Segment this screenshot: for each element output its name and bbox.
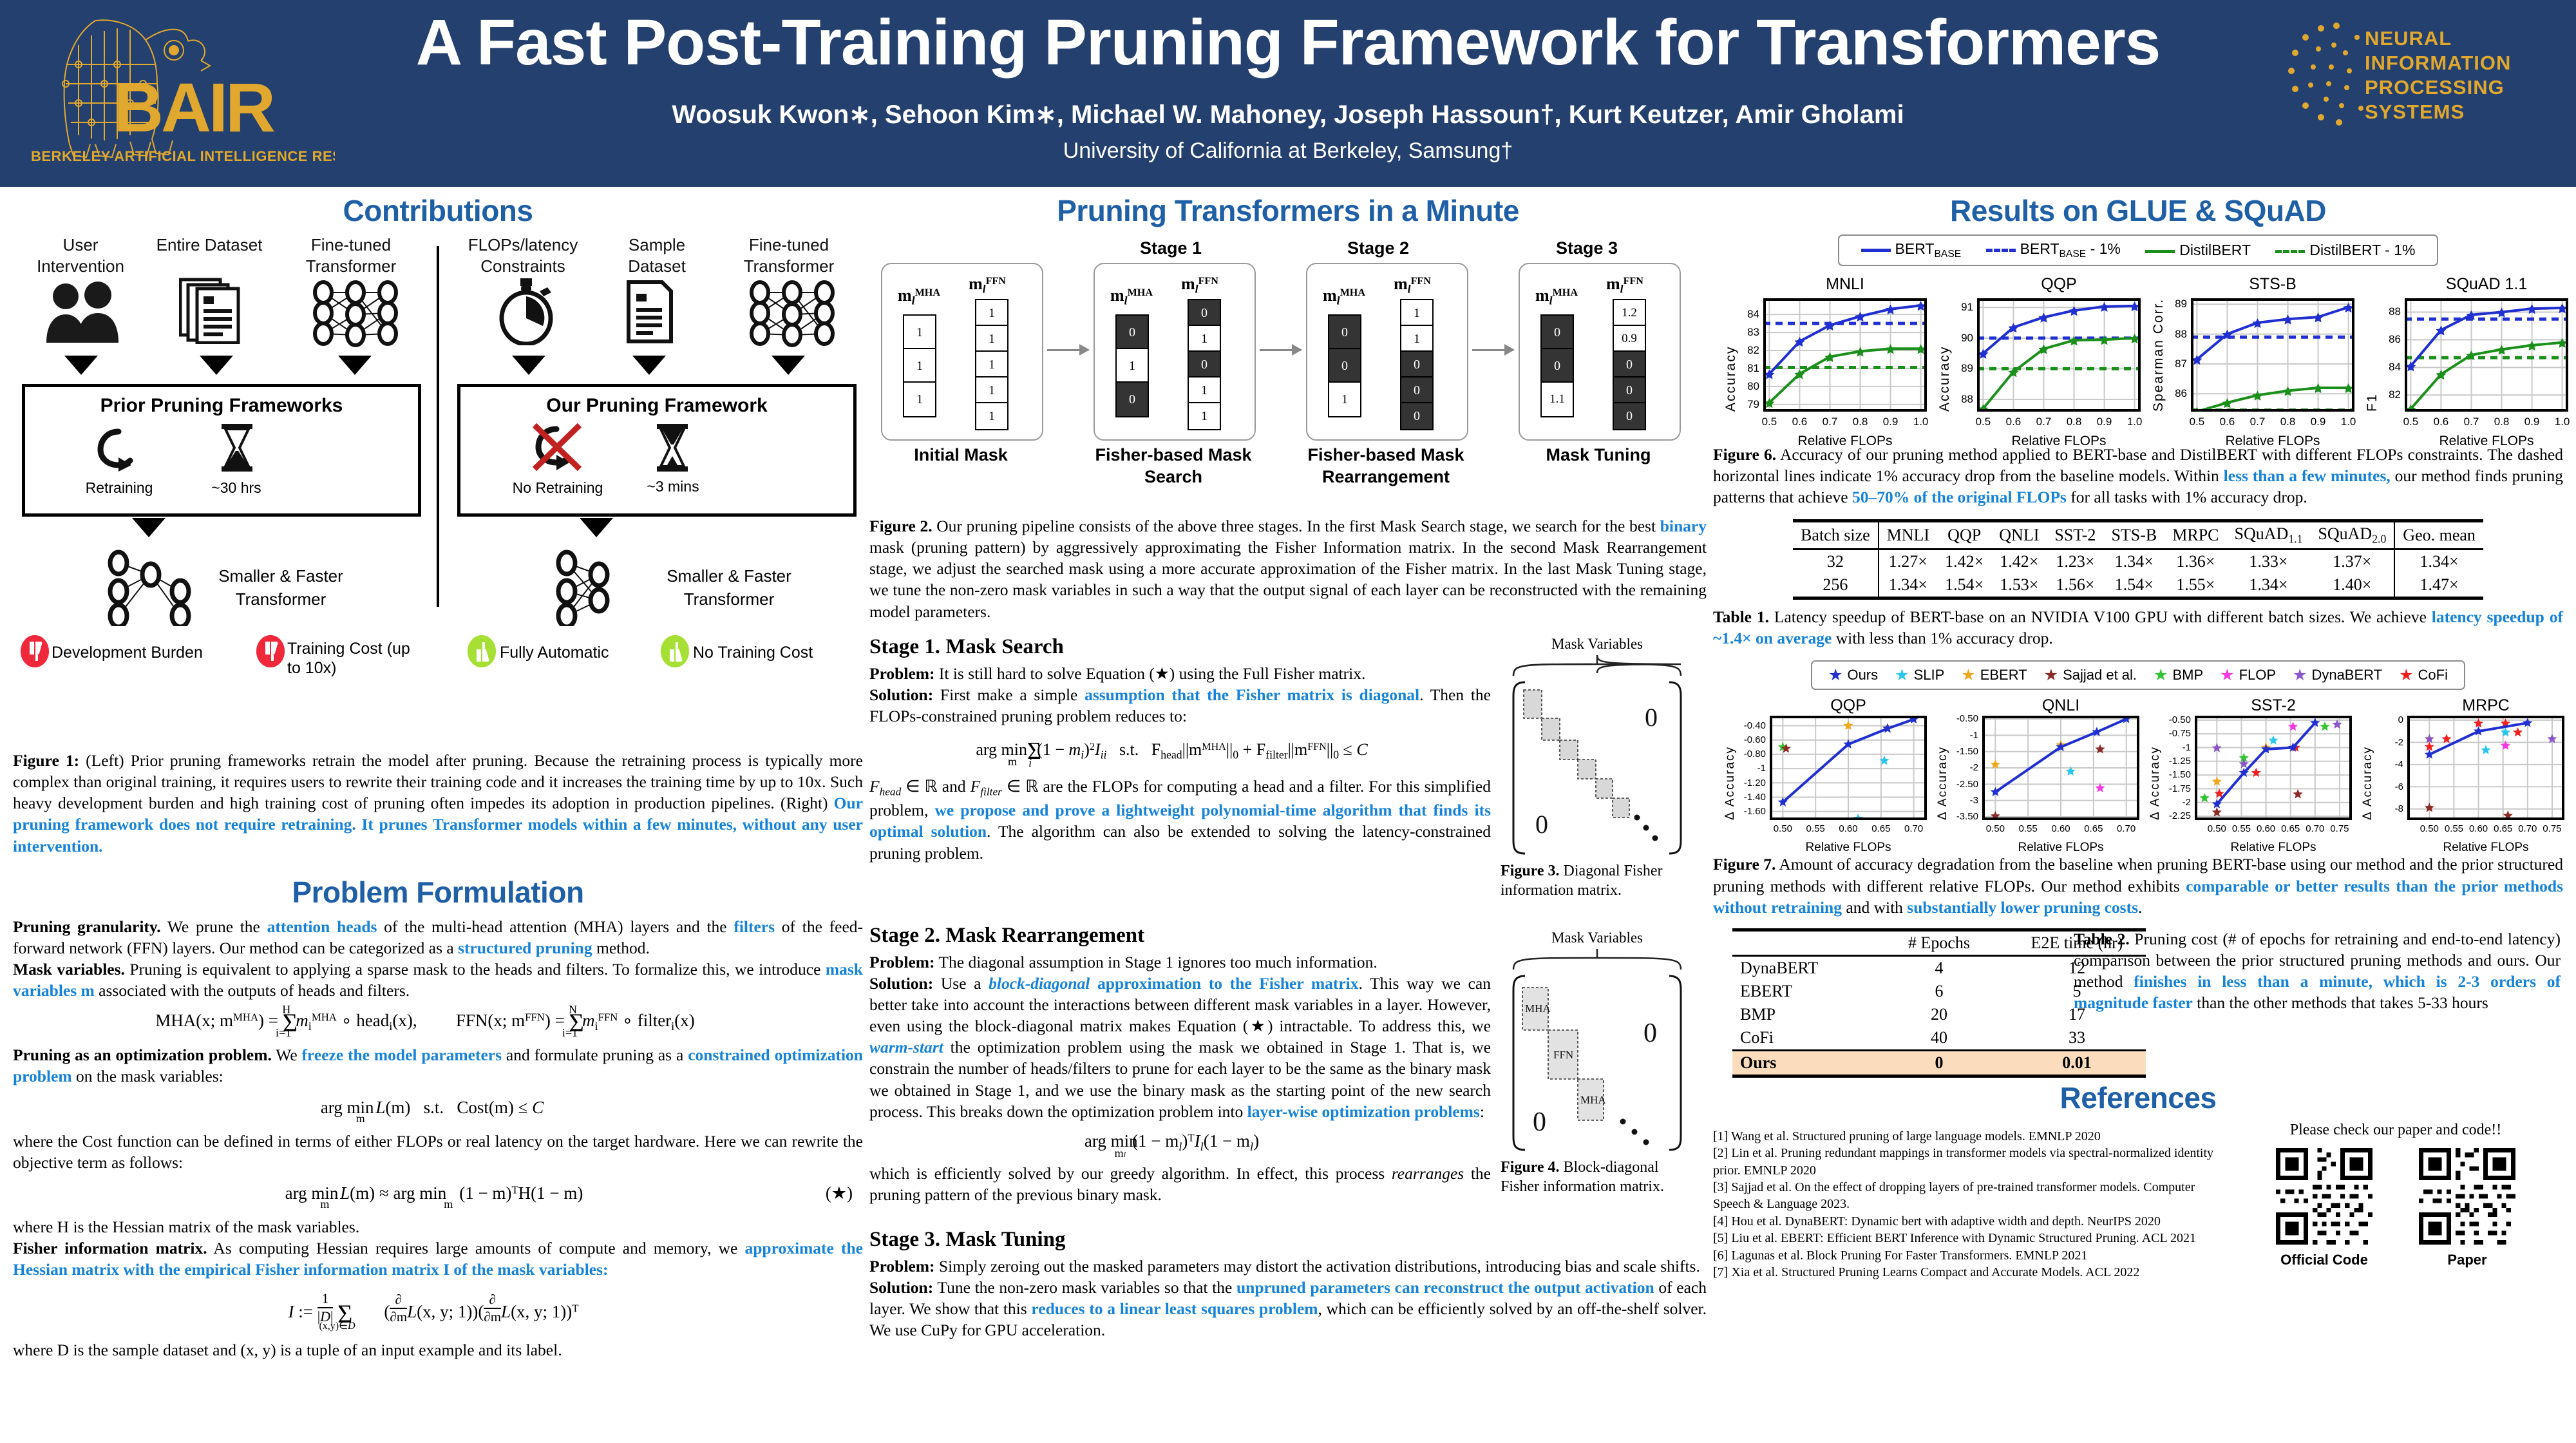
figure-4-matrix: MHA FFN MHA 0 0 (1508, 972, 1686, 1154)
s2-sol-blue2: layer-wise optimization problems (1247, 1102, 1480, 1121)
neural-network-icon (309, 278, 403, 351)
no-retraining-icon (529, 421, 585, 477)
p3-blue1: freeze the model parameters (302, 1046, 502, 1064)
arrow-down-icon (512, 356, 545, 375)
figure-7-ytick: -0.50 (2163, 714, 2191, 725)
legend-swatch-bert (1861, 249, 1891, 252)
figure-1-caption: Figure 1: (Left) Prior pruning framework… (13, 750, 863, 857)
table-1-cell: 1.54× (1937, 573, 1991, 598)
figure-7-panel-title-0: QQP (1763, 696, 1933, 715)
figure-7-ytick: -1 (1738, 763, 1766, 774)
p1b: of the multi-head attention (MHA) layers… (377, 917, 734, 936)
figure-6-panel-0 (1763, 298, 1927, 412)
svg-text:BAIR: BAIR (113, 68, 274, 146)
stage-label-3: Stage 3 (1556, 238, 1618, 258)
fig7-blue2: substantially lower pruning costs (1907, 898, 2138, 917)
equation-constrained-min: arg minm L(m) s.t. Cost(m) ≤ C (13, 1098, 863, 1118)
stage-3-block: Stage 3. Mask Tuning Problem: Simply zer… (869, 1228, 1707, 1341)
fig2-cap-a: Our pruning pipeline consists of the abo… (933, 517, 1660, 535)
p3c: on the mask variables: (72, 1067, 223, 1085)
table-1-cell: 1.53× (1991, 573, 2047, 598)
input-label-sample-dataset: Sample Dataset (599, 234, 715, 276)
s3-sol-a: Tune the non-zero mask variables so that… (933, 1278, 1236, 1297)
neurips-line-1: INFORMATION (2365, 52, 2511, 74)
table-1-header-6: MRPC (2164, 521, 2226, 549)
table-1-header-1: MNLI (1879, 521, 1937, 549)
table-2-cell: 20 (1870, 1003, 2008, 1026)
figure-6-panel-title-1: QQP (1971, 275, 2147, 294)
figure-7-ylabel-3: Δ Accuracy (2361, 746, 2375, 820)
bair-logo: BAIR BERKELEY ARTIFICIAL INTELLIGENCE RE… (19, 6, 335, 180)
pipeline-card-search: mlMHA mlFFN 0 1 0 0 1 0 1 1 (1094, 263, 1256, 441)
pipeline-arrow-3 (1472, 349, 1513, 351)
figure-1-caption-label: Figure 1: (13, 751, 79, 770)
thumbs-up-icon (661, 635, 689, 667)
our-badge-0: Fully Automatic (500, 643, 609, 662)
s2-sol-d: : (1480, 1102, 1484, 1121)
table-2-row-highlight: Ours00.01 (1732, 1050, 2146, 1076)
figure-6-xtick: 0.5 (1969, 416, 1997, 428)
figure-7-xlabel-2: Relative FLOPs (2188, 841, 2358, 855)
s3-sol-blue1: unpruned parameters can reconstruct the … (1236, 1278, 1654, 1297)
s3-sol-blue2: reduces to a linear least squares proble… (1031, 1299, 1318, 1318)
figure-7-xtick: 0.70 (1900, 823, 1928, 834)
qr-label-official-code: Official Code (2276, 1252, 2372, 1268)
table-1-cell: 1.27× (1879, 549, 1937, 574)
figure-6-panel-1 (1977, 298, 2141, 412)
figure-6-ytick: 84 (2379, 361, 2401, 374)
figure-6-ytick: 81 (1738, 362, 1759, 375)
p1-blue2: filters (734, 917, 775, 936)
table-1-cell: 1.56× (2047, 573, 2103, 598)
s2-prob-text: The diagonal assumption in Stage 1 ignor… (935, 953, 1378, 971)
stage-2-after: which is efficiently solved by our greed… (869, 1163, 1491, 1205)
figure-7-ytick: -0.75 (2163, 728, 2191, 739)
table-1-row: 2561.34×1.54×1.53×1.56×1.54×1.55×1.34×1.… (1793, 573, 2483, 598)
table-1-cell: 1.54× (2103, 573, 2164, 598)
table-1-cell: 1.42× (1991, 549, 2047, 574)
problem-paragraph-6: Fisher information matrix. As computing … (13, 1238, 863, 1280)
figure-7-ytick: -1.20 (1738, 778, 1766, 788)
p1a: We prune the (161, 917, 267, 936)
stage-3-heading: Stage 3. Mask Tuning (869, 1228, 1707, 1252)
figure-6-xtick: 0.7 (1815, 416, 1844, 428)
legend-swatch: ★ (2293, 665, 2307, 685)
prior-badge-0: Development Burden (52, 643, 203, 662)
figure-6-xtick: 0.7 (2243, 416, 2271, 428)
figure-7-xtick: 0.55 (2014, 823, 2042, 834)
section-heading-problem-formulation: Problem Formulation (13, 875, 863, 910)
reference-item-0: [1] Wang et al. Structured pruning of la… (1713, 1128, 2222, 1145)
figure-7-xtick: 0.75 (2325, 823, 2354, 834)
problem-paragraph-1: Pruning granularity. We prune the attent… (13, 916, 863, 959)
figure-6-xtick: 0.9 (2090, 416, 2119, 428)
figure-7-panel-1 (1982, 716, 2139, 820)
s1-sol-a: First make a simple (933, 685, 1084, 704)
table-2-header-0 (1732, 930, 1870, 955)
figure-6-ytick: 82 (1738, 344, 1759, 357)
stage-3-problem: Problem: Simply zeroing out the masked p… (869, 1256, 1707, 1277)
figure-7-ytick: -1 (2163, 742, 2191, 753)
figure-6-xtick: 0.6 (2427, 416, 2455, 428)
s1-prob-label: Problem: (869, 664, 935, 683)
figure-6-xtick: 0.5 (2396, 416, 2425, 428)
figure-6-xlabel-1: Relative FLOPs (1971, 434, 2147, 449)
legend-item-ebert: ★EBERT (1961, 665, 2027, 685)
figure-7-chart: QQPΔ AccuracyRelative FLOPs-1.60-1.40-1.… (1713, 696, 2563, 846)
fig2-cap-b: mask (pruning pattern) by aggressively a… (869, 538, 1707, 620)
our-badge-1: No Training Cost (693, 643, 813, 662)
s1-prob-text: It is still hard to solve Equation (★) u… (935, 664, 1366, 683)
arrow-down-icon (772, 356, 805, 375)
figure-1-diagram: User Intervention Entire Dataset Fine-tu… (13, 234, 863, 743)
our-framework-item-0: No Retraining (500, 479, 616, 497)
legend-swatch: ★ (1961, 665, 1975, 685)
figure-6-xlabel-3: Relative FLOPs (2398, 434, 2575, 449)
qr-official-code[interactable]: Official Code (2276, 1148, 2372, 1268)
svg-text:0: 0 (1643, 1018, 1657, 1048)
problem-paragraph-5: where H is the Hessian matrix of the mas… (13, 1216, 863, 1238)
table-1-cell: 1.23× (2047, 549, 2103, 574)
figure-6-xlabel-2: Relative FLOPs (2184, 434, 2361, 449)
table-1-cell: 1.37× (2310, 549, 2394, 574)
figure-7-panel-0 (1770, 716, 1927, 820)
fig7-cap-b: and with (1842, 898, 1907, 917)
pipeline-card-rearrange: mlMHA mlFFN 0 0 1 1 1 0 0 0 (1306, 263, 1468, 441)
s2-sol-label: Solution: (869, 974, 933, 993)
figure-6-ylabel-2: Spearman Corr. (2151, 298, 2166, 412)
legend-item-bert: BERTBASE (1861, 240, 1962, 260)
reference-item-4: [5] Liu et al. EBERT: Efficient BERT Inf… (1713, 1230, 2222, 1247)
reference-item-5: [6] Lagunas et al. Block Pruning For Fas… (1713, 1247, 2222, 1264)
figure-6-xtick: 1.0 (2334, 416, 2363, 428)
figure-7-ytick: -0.80 (1738, 749, 1766, 760)
figure-6-xtick: 1.0 (2548, 416, 2576, 428)
figure-6-ytick: 88 (2379, 305, 2401, 318)
figure-6-xtick: 0.8 (1846, 416, 1875, 428)
figure-6-ytick: 84 (1738, 308, 1759, 321)
figure-6-xtick: 1.0 (2121, 416, 2149, 428)
stage-2-problem: Problem: The diagonal assumption in Stag… (869, 951, 1491, 973)
figure-7-caption: Figure 7. Amount of accuracy degradation… (1713, 854, 2563, 917)
figure-3-brace (1508, 654, 1686, 678)
s2-prob-label: Problem: (869, 953, 935, 971)
table-2-cell: EBERT (1732, 980, 1870, 1003)
equation-stage2: arg minml(1 − ml)TIl(1 − ml) (869, 1131, 1491, 1154)
pipeline-stage-name-1: Fisher-based Mask Search (1095, 444, 1252, 488)
section-heading-references: References (1713, 1080, 2563, 1115)
table-1-row: 321.27×1.42×1.42×1.23×1.34×1.36×1.33×1.3… (1793, 549, 2483, 574)
table-1-cell: 1.34× (1879, 573, 1937, 598)
legend-item-sajjad-et-al: ★Sajjad et al. (2044, 665, 2137, 685)
figure-4-brace (1508, 948, 1686, 972)
legend-item-bmp: ★BMP (2154, 665, 2203, 685)
problem-paragraph-4: where the Cost function can be defined i… (13, 1131, 863, 1173)
pipeline-card-tuning: mlMHA mlFFN 0 0 1.1 1.2 0.9 0 0 0 (1519, 263, 1681, 441)
figure-7-ytick: -1.75 (2163, 783, 2191, 794)
figure-7-panel-title-1: QNLI (1976, 696, 2146, 715)
stage-1-heading: Stage 1. Mask Search (869, 635, 1491, 659)
p6a: As computing Hessian requires large amou… (207, 1239, 745, 1257)
figure-4-block-0: MHA (1525, 1002, 1551, 1015)
legend-swatch-bert-1pct (1986, 249, 2016, 252)
figure-6-ytick: 88 (2165, 328, 2187, 341)
tbl1-cap-b: with less than 1% accuracy drop. (1832, 629, 2052, 647)
figure-7-panel-title-2: SST-2 (2188, 696, 2358, 715)
table-2-cell-ours: Ours (1732, 1050, 1870, 1076)
pipeline-arrow-1 (1047, 349, 1088, 351)
figure-6-xtick: 0.8 (2274, 416, 2302, 428)
neurips-line-0: NEURAL (2365, 27, 2452, 50)
figure-3-matrix: 0 0 (1508, 678, 1686, 857)
prior-framework-item-1: ~30 hrs (188, 479, 285, 497)
tbl1-cap-a: Latency speedup of BERT-base on an NVIDI… (1769, 607, 2432, 626)
thumbs-down-icon (21, 635, 49, 667)
figure-6-ytick: 88 (1951, 393, 1973, 406)
figure-6-caption: Figure 6. Accuracy of our pruning method… (1713, 444, 2563, 508)
tbl1-cap-label: Table 1. (1713, 607, 1769, 626)
figure-7-xtick: 0.75 (2538, 823, 2566, 834)
figure-6-panel-2 (2191, 298, 2354, 412)
legend-item-dynabert: ★DynaBERT (2293, 665, 2382, 685)
stage-1-problem: Problem: It is still hard to solve Equat… (869, 663, 1491, 684)
table-2-cell-ours: 0.01 (2008, 1050, 2146, 1076)
fig6-blue2: 50–70% of the original FLOPs (1852, 488, 2067, 506)
figure-4-caption: Figure 4. Block-diagonal Fisher informat… (1501, 1158, 1694, 1196)
s2-after-i: rearranges (1392, 1164, 1464, 1183)
thumbs-up-icon (468, 635, 496, 667)
figure-6-xtick: 0.6 (2213, 416, 2241, 428)
figure-6-ytick: 89 (1951, 362, 1973, 375)
p3a: We (272, 1046, 302, 1064)
our-framework-title: Our Pruning Framework (460, 395, 853, 417)
p2a: Pruning is equivalent to applying a spar… (125, 960, 826, 979)
figure-6-xtick: 0.9 (1877, 416, 1905, 428)
author-list: Woosuk Kwon∗, Sehoon Kim∗, Michael W. Ma… (335, 100, 2241, 129)
documents-stack-icon (179, 277, 246, 347)
figure-6-xtick: 0.5 (1755, 416, 1783, 428)
figure-2-caption: Figure 2. Our pruning pipeline consists … (869, 515, 1707, 622)
references-block: [1] Wang et al. Structured pruning of la… (1713, 1122, 2563, 1270)
table-1-cell: 1.34× (2103, 549, 2164, 574)
figure-7-ytick: 0 (2375, 714, 2403, 725)
table-1-header-5: STS-B (2103, 521, 2164, 549)
table-1-caption: Table 1. Latency speedup of BERT-base on… (1713, 606, 2563, 649)
figure-6-ylabel-1: Accuracy (1937, 346, 1953, 412)
arrow-down-icon (632, 356, 666, 375)
arrow-down-icon (132, 518, 166, 537)
figure-4-block-1: FFN (1553, 1049, 1573, 1061)
pruned-network-icon (103, 549, 197, 629)
p1-bold: Pruning granularity. (13, 917, 161, 936)
figure-7-ytick: -0.50 (1950, 713, 1978, 724)
figure-3-mask-vars-label: Mask Variables (1501, 635, 1694, 653)
input-label-finetuned-transformer-2: Fine-tuned Transformer (721, 234, 857, 276)
stage-1-after: Fhead ∈ ℝ and Ffilter ∈ ℝ are the FLOPs … (869, 776, 1491, 864)
stage-2-block: Stage 2. Mask Rearrangement Problem: The… (869, 924, 1707, 1221)
figure-7-ytick: -1 (1950, 730, 1978, 741)
figure-6-xtick: 0.6 (1785, 416, 1814, 428)
retraining-loop-icon (95, 425, 142, 475)
prior-output-label: Smaller & Faster Transformer (204, 564, 358, 611)
users-icon (44, 281, 121, 346)
table-2-cell: DynaBERT (1732, 955, 1870, 980)
table-2-cell: 6 (1870, 980, 2008, 1003)
table-1-cell: 1.40× (2310, 573, 2394, 598)
table-1-header-4: SST-2 (2047, 521, 2103, 549)
figure-6-xtick: 0.7 (2457, 416, 2485, 428)
qr-paper[interactable]: Paper (2419, 1148, 2515, 1268)
figure-4: Mask Variables M (1501, 929, 1694, 1197)
input-label-entire-dataset: Entire Dataset (148, 234, 270, 256)
column-results: Results on GLUE & SQuAD BERTBASE BERTBAS… (1713, 193, 2563, 1270)
legend-swatch: ★ (2044, 665, 2058, 685)
input-label-finetuned-transformer: Fine-tuned Transformer (283, 234, 419, 276)
figure-7-ylabel-0: Δ Accuracy (1723, 746, 1738, 820)
column-contributions: Contributions User Intervention Entire D… (13, 193, 863, 1361)
figure-7-xtick: 0.50 (1981, 823, 2009, 834)
s2-after-a: which is efficiently solved by our greed… (869, 1164, 1392, 1183)
figure-7-ytick: -1.50 (1950, 746, 1978, 757)
s3-sol-label: Solution: (869, 1278, 933, 1297)
table-2-cell: BMP (1732, 1003, 1870, 1026)
problem-paragraph-2: Mask variables. Pruning is equivalent to… (13, 959, 863, 1001)
fig4-label: Figure 4. (1501, 1159, 1560, 1176)
table-1-header-0: Batch size (1793, 521, 1879, 549)
legend-swatch: ★ (2399, 665, 2413, 685)
fig6-cap-c: for all tasks with 1% accuracy drop. (2067, 488, 2307, 506)
pipeline-stage-name-0: Initial Mask (882, 444, 1039, 466)
figure-6-ylabel-3: F1 (2365, 393, 2380, 412)
fig7-cap-label: Figure 7. (1713, 855, 1776, 874)
reference-item-1: [2] Lin et al. Pruning redundant mapping… (1713, 1145, 2222, 1179)
figure-6-ytick: 83 (1738, 326, 1759, 339)
figure-7-ytick: -1.60 (1738, 806, 1766, 817)
legend-swatch: ★ (2220, 665, 2234, 685)
tbl2-cap-label: Table 2. (2074, 930, 2130, 948)
figure-7-xtick: 0.65 (2079, 823, 2108, 834)
table-2-cell-ours: 0 (1870, 1050, 2008, 1076)
figure-6-xtick: 0.9 (2518, 416, 2546, 428)
p3b: and formulate pruning as a (502, 1046, 688, 1064)
pipeline-card-initial: mlMHA mlFFN 1 1 1 1 1 1 1 1 (881, 263, 1043, 441)
figure-7-ytick: -1.40 (1738, 792, 1766, 803)
our-framework-item-1: ~3 mins (625, 478, 721, 495)
poster-root: BAIR BERKELEY ARTIFICIAL INTELLIGENCE RE… (0, 0, 2576, 1443)
s2-warm: warm-start (869, 1038, 943, 1056)
figure-7-xtick: 0.60 (1834, 823, 1862, 834)
tbl2-cap-b: than the other methods that takes 5-33 h… (2193, 993, 2488, 1012)
figure-7-ytick: -4 (2375, 759, 2403, 770)
figure-6-xtick: 0.9 (2304, 416, 2333, 428)
figure-7-ytick: -2 (2375, 737, 2403, 748)
figure-7-ytick: -0.40 (1738, 720, 1766, 731)
figure-6-ytick: 91 (1951, 301, 1973, 314)
table-2-caption: Table 2. Pruning cost (# of epochs for r… (2074, 928, 2561, 1014)
figure-7-xtick: 0.70 (2112, 823, 2141, 834)
neural-network-icon (746, 278, 840, 351)
p2b: associated with the outputs of heads and… (95, 981, 410, 1000)
legend-swatch-distilbert-1pct (2275, 250, 2305, 253)
affiliation: University of California at Berkeley, Sa… (335, 139, 2241, 164)
arrow-down-icon (64, 356, 98, 375)
figure-7-ytick: -1.50 (2163, 769, 2191, 780)
legend-swatch-distilbert (2145, 250, 2175, 253)
fig7-cap-c: . (2138, 898, 2142, 917)
figure-6-ytick: 86 (2165, 387, 2187, 400)
figure-7-ytick: -8 (2375, 803, 2403, 814)
input-label-flops-constraints: FLOPs/latency Constraints (452, 234, 594, 276)
table-1-cell: 1.34× (2394, 549, 2483, 574)
reference-item-6: [7] Xia et al. Structured Pruning Learns… (1713, 1264, 2222, 1281)
input-label-user-intervention: User Intervention (19, 234, 142, 276)
figure-6-xtick: 0.5 (2183, 416, 2211, 428)
legend-item-distilbert: DistilBERT (2145, 242, 2251, 259)
table-2-row: CoFi4033 (1732, 1026, 2146, 1051)
svg-text:0: 0 (1535, 810, 1548, 839)
fig3-label: Figure 3. (1501, 863, 1560, 879)
figure-7-xlabel-1: Relative FLOPs (1976, 841, 2146, 855)
p6-bold: Fisher information matrix. (13, 1239, 207, 1257)
thumbs-down-icon (256, 635, 285, 667)
figure-6-chart: MNLIAccuracyRelative FLOPs7980818283840.… (1713, 275, 2563, 436)
p1-blue1: attention heads (267, 917, 377, 936)
figure-1-caption-body: (Left) Prior pruning frameworks retrain … (13, 751, 863, 812)
figure-7-ylabel-2: Δ Accuracy (2148, 746, 2163, 820)
figure-7-ytick: -6 (2375, 781, 2403, 792)
fig2-cap-blue: binary (1660, 517, 1707, 535)
table-1-cell: 1.34× (2227, 573, 2311, 598)
figure-7-ytick: -2.25 (2163, 810, 2191, 821)
figure-7-ytick: -0.60 (1738, 734, 1766, 745)
figure1-divider (437, 246, 439, 607)
legend-item-ours: ★Ours (1828, 665, 1878, 685)
s2-sol-a: Use a (933, 974, 989, 993)
neurips-logo: NEURAL INFORMATION PROCESSING SYSTEMS (2280, 12, 2550, 176)
poster-header: BAIR BERKELEY ARTIFICIAL INTELLIGENCE RE… (0, 0, 2576, 187)
table-1-cell: 1.47× (2394, 573, 2483, 598)
table-1-cell: 1.33× (2227, 549, 2311, 574)
section-heading-results: Results on GLUE & SQuAD (1713, 193, 2563, 228)
figure-6-ytick: 87 (2165, 358, 2187, 370)
stage-label-1: Stage 1 (1140, 238, 1202, 258)
figure-7-panel-title-3: MRPC (2401, 696, 2571, 715)
arrow-down-icon (200, 356, 233, 375)
table-2-cell: CoFi (1732, 1026, 1870, 1051)
s1-sol-label: Solution: (869, 685, 933, 704)
figure-7-panel-2 (2195, 716, 2352, 820)
table-1-header-7: SQuAD1.1 (2227, 521, 2311, 549)
figure-7-ytick: -2.50 (1950, 779, 1978, 790)
figure-6-ytick: 82 (2379, 388, 2401, 401)
table-1: Batch sizeMNLIQQPQNLISST-2STS-BMRPCSQuAD… (1793, 519, 2483, 600)
figure-6-ytick: 86 (2379, 333, 2401, 346)
equation-star-tag: (★) (826, 1183, 853, 1203)
figure-4-block-2: MHA (1580, 1094, 1606, 1106)
equation-mha-ffn: MHA(x; mMHA) = Σi=1HmiMHA ∘ headi(x), FF… (13, 1008, 863, 1038)
page-title: A Fast Post-Training Pruning Framework f… (335, 9, 2241, 77)
document-icon (625, 280, 675, 347)
p1-blue3: structured pruning (458, 939, 592, 957)
section-heading-pipeline: Pruning Transformers in a Minute (869, 193, 1707, 228)
figure-6-xlabel-0: Relative FLOPs (1757, 434, 1933, 449)
table-1-header-2: QQP (1937, 521, 1991, 549)
figure-6-xtick: 1.0 (1907, 416, 1935, 428)
figure-7-ytick: -2 (1950, 762, 1978, 773)
stage-3-solution: Solution: Tune the non-zero mask variabl… (869, 1277, 1707, 1341)
problem-paragraph-3: Pruning as an optimization problem. We f… (13, 1044, 863, 1087)
figure-7-panel-3 (2407, 716, 2564, 820)
